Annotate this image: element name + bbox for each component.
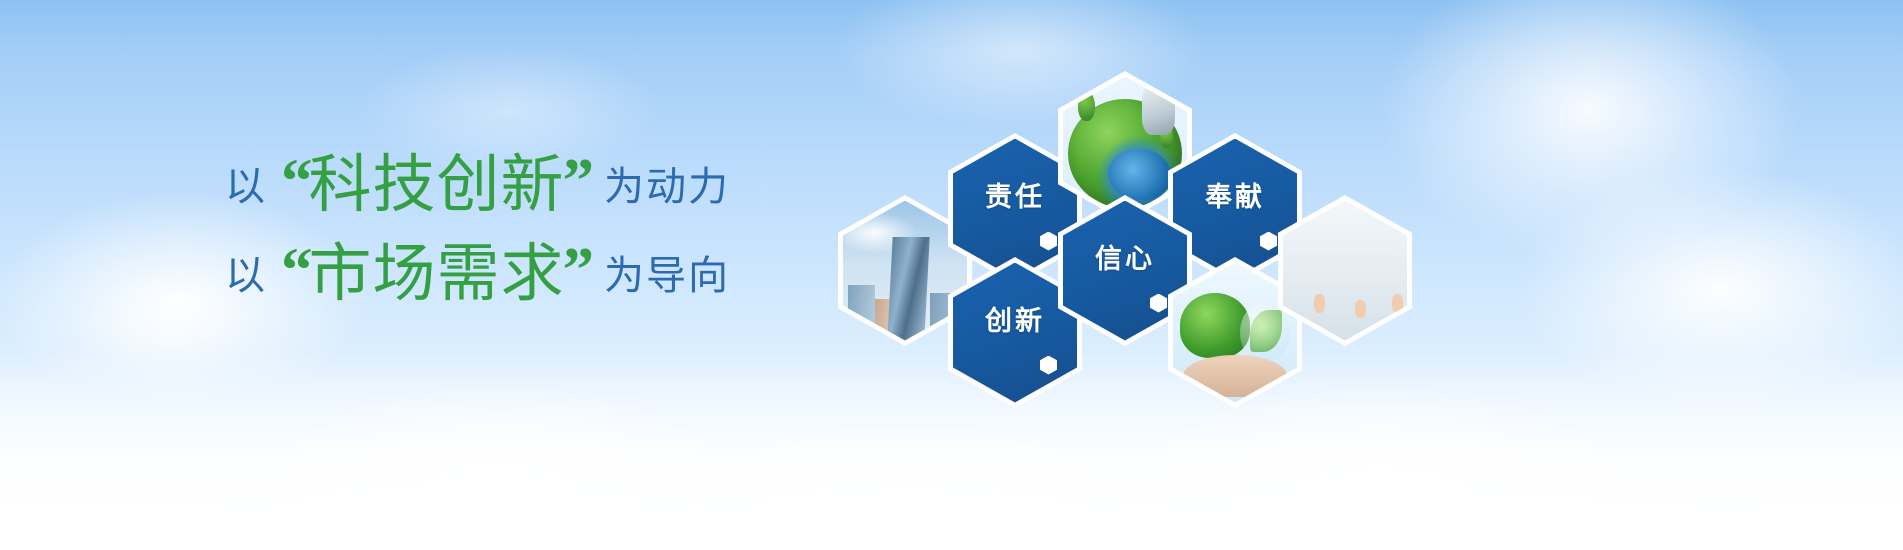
cloud-decoration [180, 330, 820, 550]
business-people-thumbs-up-image [1283, 201, 1407, 341]
hands [1183, 355, 1287, 397]
hexagon-label: 创新 [985, 299, 1045, 338]
quote-close-mark: ” [563, 239, 595, 302]
slogan-line-1: 以 “ 科技创新 ” 为动力 [225, 148, 845, 211]
hexagon-accent-dot-icon [1040, 356, 1057, 375]
ocean [1108, 149, 1170, 199]
cloud-decoration [0, 430, 860, 550]
slogan-prefix: 以 [225, 167, 267, 207]
quote-close-mark: ” [563, 150, 595, 213]
hexagon-label: 信心 [1095, 237, 1155, 276]
hexagon-cluster: 责任 奉献 [820, 50, 1420, 410]
slogan-highlight: 市场需求 [309, 243, 565, 306]
lightbulb-icon [1142, 79, 1174, 135]
hexagon-accent-dot-icon [1260, 232, 1277, 251]
slogan-prefix: 以 [225, 256, 267, 296]
hexagon-accent-dot-icon [1150, 294, 1167, 313]
sun-glow [1380, 0, 1800, 260]
hexagon-photo-frame [1283, 201, 1407, 341]
hexagon-accent-dot-icon [1040, 232, 1057, 251]
hexagon-label: 责任 [985, 175, 1045, 214]
cloud-decoration [1440, 120, 1903, 460]
building [848, 285, 875, 341]
hexagon-label: 奉献 [1205, 175, 1265, 214]
thumbs-up-icon [1314, 294, 1325, 312]
slogan-highlight: 科技创新 [309, 154, 565, 217]
cloud-decoration [1240, 430, 1903, 550]
plant-foliage [1180, 293, 1249, 357]
thumbs-up-icon [1392, 294, 1403, 312]
hero-banner: 以 “ 科技创新 ” 为动力 以 “ 市场需求 ” 为导向 [0, 0, 1903, 550]
slogan-suffix: 为导向 [604, 256, 730, 296]
slogan-suffix: 为动力 [604, 167, 730, 207]
tree [1078, 91, 1095, 122]
building [887, 237, 930, 341]
thumbs-up-icon [1355, 300, 1366, 318]
slogan-line-2: 以 “ 市场需求 ” 为导向 [225, 237, 845, 300]
slogan-block: 以 “ 科技创新 ” 为动力 以 “ 市场需求 ” 为导向 [225, 148, 845, 326]
glass-dome [1240, 302, 1290, 364]
